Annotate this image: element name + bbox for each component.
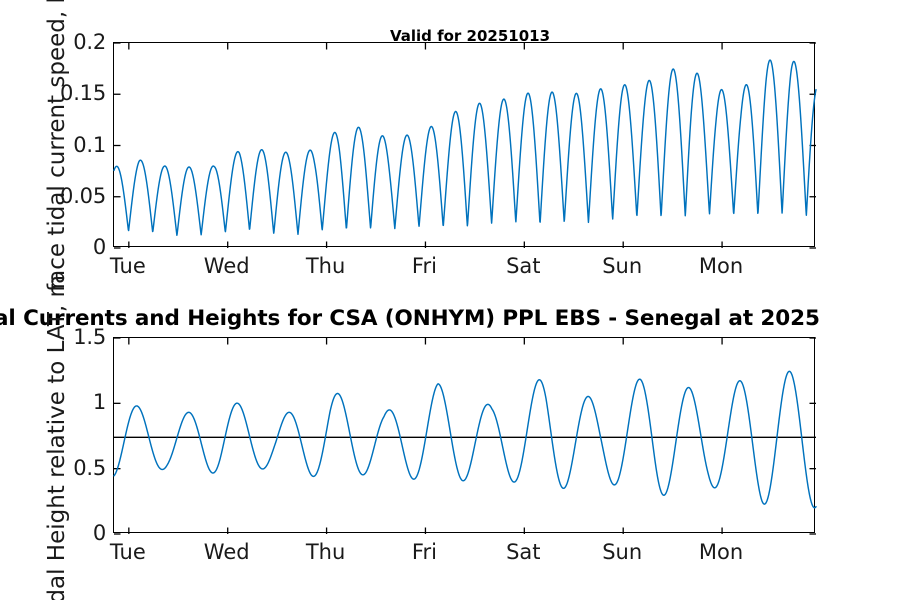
x-tick-label: Wed [204, 540, 250, 564]
x-tick-label: Fri [412, 254, 437, 278]
current-speed-series-path [114, 60, 816, 235]
x-tick-label: Fri [412, 540, 437, 564]
tidal-height-series-path [114, 371, 816, 507]
x-tick-label: Tue [110, 254, 146, 278]
x-tick-label: Sat [506, 540, 540, 564]
x-tick-label: Mon [699, 254, 743, 278]
plot-area-current-speed [113, 42, 815, 247]
figure-canvas: Valid for 20251013 00.050.10.150.2 TueWe… [0, 0, 900, 600]
x-tick-label: Thu [306, 540, 345, 564]
x-tick-label: Sat [506, 254, 540, 278]
x-tick-label: Thu [306, 254, 345, 278]
figure-main-title: al Currents and Heights for CSA (ONHYM) … [0, 306, 820, 331]
y-axis-label-tidal-height: idal Height relative to LAT, m [44, 275, 70, 600]
tick-marks-top [114, 43, 816, 248]
x-tick-label: Sun [602, 540, 642, 564]
x-tick-label: Wed [204, 254, 250, 278]
current-speed-line-svg [114, 43, 816, 248]
y-axis-label-current-speed: face tidal current speed, kn [44, 0, 70, 292]
x-tick-label: Sun [602, 254, 642, 278]
tidal-height-line-svg [114, 338, 816, 534]
x-tick-label: Mon [699, 540, 743, 564]
x-tick-label: Tue [110, 540, 146, 564]
plot-area-tidal-height [113, 337, 815, 533]
tick-marks-bottom [114, 338, 816, 534]
